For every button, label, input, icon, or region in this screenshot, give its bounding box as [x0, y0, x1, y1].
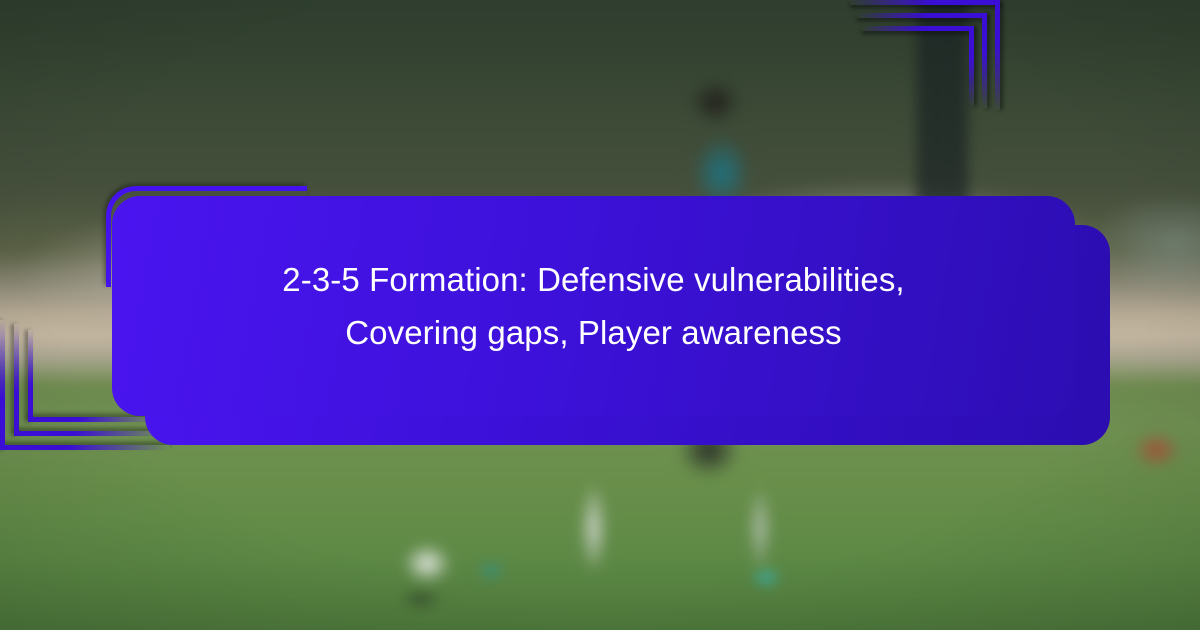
- bracket-inner-vertical-leg: [28, 330, 33, 422]
- bracket-inner-vertical-leg: [969, 26, 974, 106]
- bracket-middle-horizontal-leg: [857, 13, 987, 18]
- bracket-outer-horizontal-leg: [850, 0, 1000, 5]
- bracket-middle-vertical-leg: [982, 13, 987, 108]
- bracket-middle-vertical-leg: [14, 324, 19, 436]
- title-card-content: 2-3-5 Formation: Defensive vulnerabiliti…: [112, 196, 1075, 416]
- bracket-inner-horizontal-leg: [862, 26, 974, 31]
- corner-brackets-bottom-left: [0, 450, 220, 630]
- page-title: 2-3-5 Formation: Defensive vulnerabiliti…: [282, 253, 904, 360]
- bracket-middle-horizontal-leg: [14, 431, 164, 436]
- poster-canvas: 2-3-5 Formation: Defensive vulnerabiliti…: [0, 0, 1200, 630]
- bracket-inner-horizontal-leg: [28, 417, 156, 422]
- bracket-outer-vertical-leg: [0, 320, 5, 450]
- bracket-outer-vertical-leg: [995, 0, 1000, 110]
- bracket-outer-horizontal-leg: [0, 445, 170, 450]
- corner-brackets-top-right: [1000, 0, 1200, 160]
